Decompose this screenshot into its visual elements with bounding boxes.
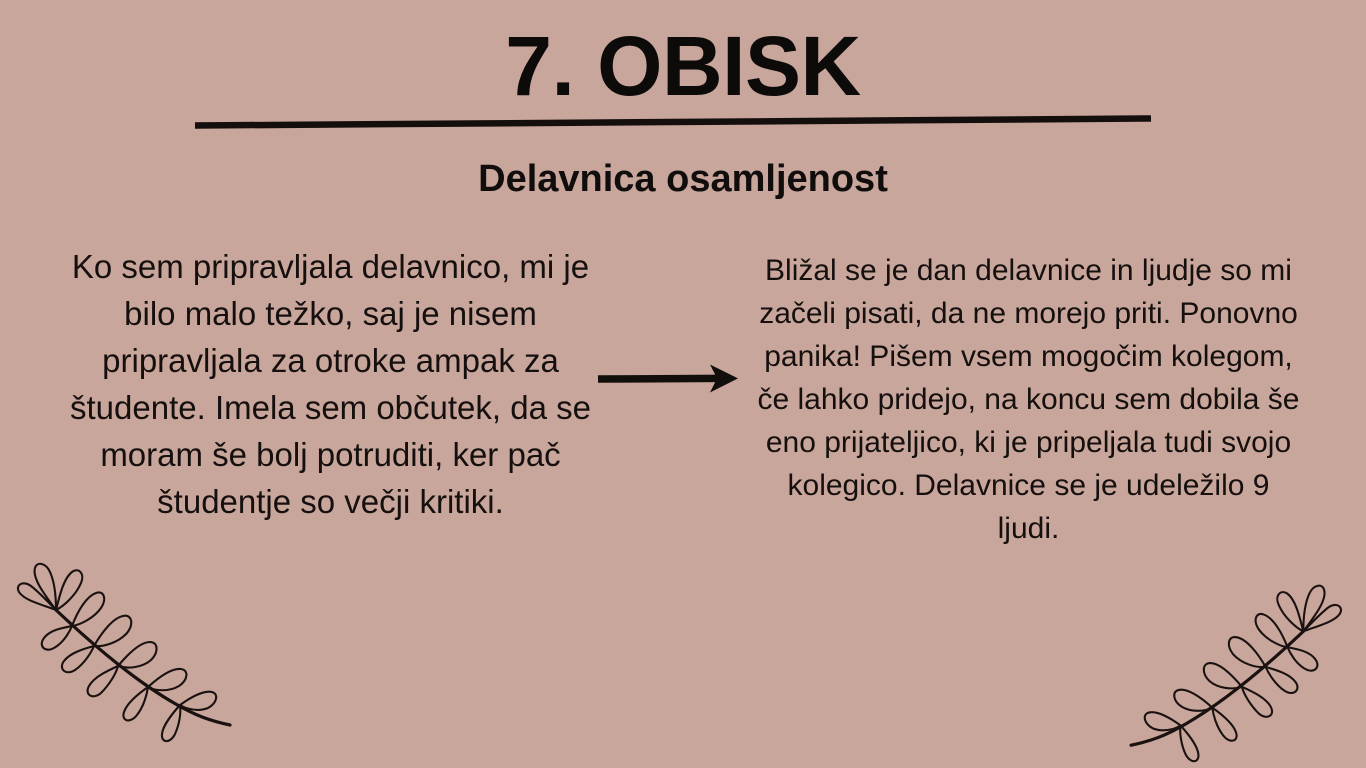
right-arrow-icon (592, 358, 744, 400)
right-text-line: ljudi. (737, 507, 1320, 550)
right-text-line: začeli pisati, da ne morejo priti. Ponov… (737, 292, 1320, 335)
right-text-line: če lahko pridejo, na koncu sem dobila še (737, 378, 1320, 421)
leaf-branch-icon (6, 548, 242, 748)
right-text-line: Bližal se je dan delavnice in ljudje so … (737, 249, 1320, 292)
page-title: 7. OBISK (0, 24, 1366, 110)
right-text-line: kolegico. Delavnice se je udeležilo 9 (737, 464, 1320, 507)
left-text-line: pripravljala za otroke ampak za (48, 337, 613, 384)
left-text-line: Ko sem pripravljala delavnico, mi je (48, 243, 613, 290)
left-text-line: študentje so večji kritiki. (48, 478, 613, 525)
right-text-block: Bližal se je dan delavnice in ljudje so … (737, 249, 1320, 550)
page-subtitle: Delavnica osamljenost (0, 157, 1366, 202)
left-text-line: moram še bolj potruditi, ker pač (48, 431, 613, 478)
slide-canvas: 7. OBISK Delavnica osamljenost Ko sem pr… (0, 0, 1366, 768)
right-text-line: panika! Pišem vsem mogočim kolegom, (737, 335, 1320, 378)
title-underline (193, 108, 1153, 132)
left-text-line: študente. Imela sem občutek, da se (48, 384, 613, 431)
right-text-line: eno prijateljico, ki je pripeljala tudi … (737, 421, 1320, 464)
left-text-line: bilo malo težko, saj je nisem (48, 290, 613, 337)
left-text-block: Ko sem pripravljala delavnico, mi je bil… (48, 243, 613, 525)
leaf-branch-icon (1110, 570, 1362, 768)
